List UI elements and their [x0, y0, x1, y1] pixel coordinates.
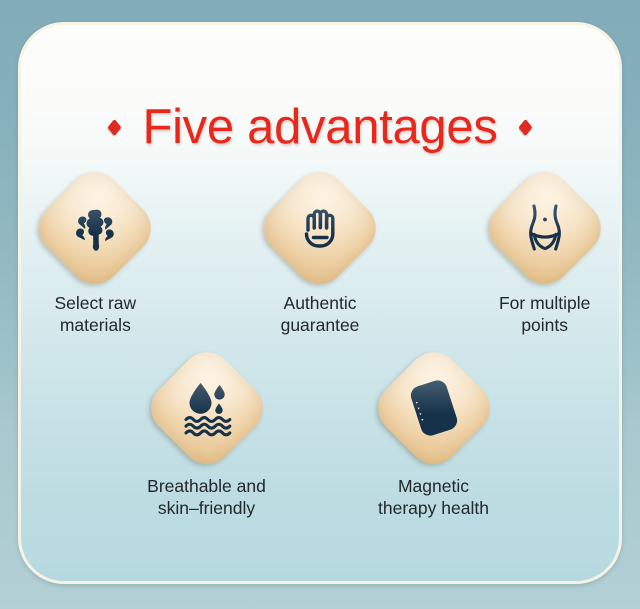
- page-title: Five advantages: [142, 103, 497, 152]
- feature-item-magnetic-therapy-health[interactable]: Magnetic therapy health: [351, 361, 516, 520]
- feature-badge: [140, 342, 273, 475]
- diamond-bullet-icon-right: [518, 119, 532, 136]
- waist-body-icon: [513, 196, 577, 260]
- feature-item-breathable-skin-friendly[interactable]: Breathable and skin–friendly: [124, 361, 289, 520]
- ginger-root-icon: [63, 196, 127, 260]
- feature-card: Five advantages: [18, 22, 622, 584]
- feature-label: Authentic guarantee: [281, 292, 360, 337]
- water-drop-icon: [175, 376, 239, 440]
- promo-banner: Five advantages: [0, 0, 640, 609]
- feature-label: Breathable and skin–friendly: [147, 475, 266, 520]
- feature-row-bottom: Breathable and skin–friendly Magnetic th…: [21, 361, 619, 520]
- feature-item-authentic-guarantee[interactable]: Authentic guarantee: [246, 181, 395, 337]
- open-hand-icon: [288, 196, 352, 260]
- feature-badge: [478, 162, 611, 295]
- diamond-bullet-icon-left: [108, 119, 122, 136]
- feature-badge: [29, 162, 162, 295]
- feature-row-top: Select raw materials: [21, 181, 619, 337]
- feature-label: Magnetic therapy health: [378, 475, 489, 520]
- title-row: Five advantages: [21, 103, 619, 152]
- magnetic-patch-icon: [402, 376, 466, 440]
- feature-item-select-raw-materials[interactable]: Select raw materials: [21, 181, 170, 337]
- feature-badge: [254, 162, 387, 295]
- feature-label: Select raw materials: [54, 292, 136, 337]
- feature-label: For multiple points: [499, 292, 590, 337]
- feature-item-for-multiple-points[interactable]: For multiple points: [470, 181, 619, 337]
- feature-badge: [367, 342, 500, 475]
